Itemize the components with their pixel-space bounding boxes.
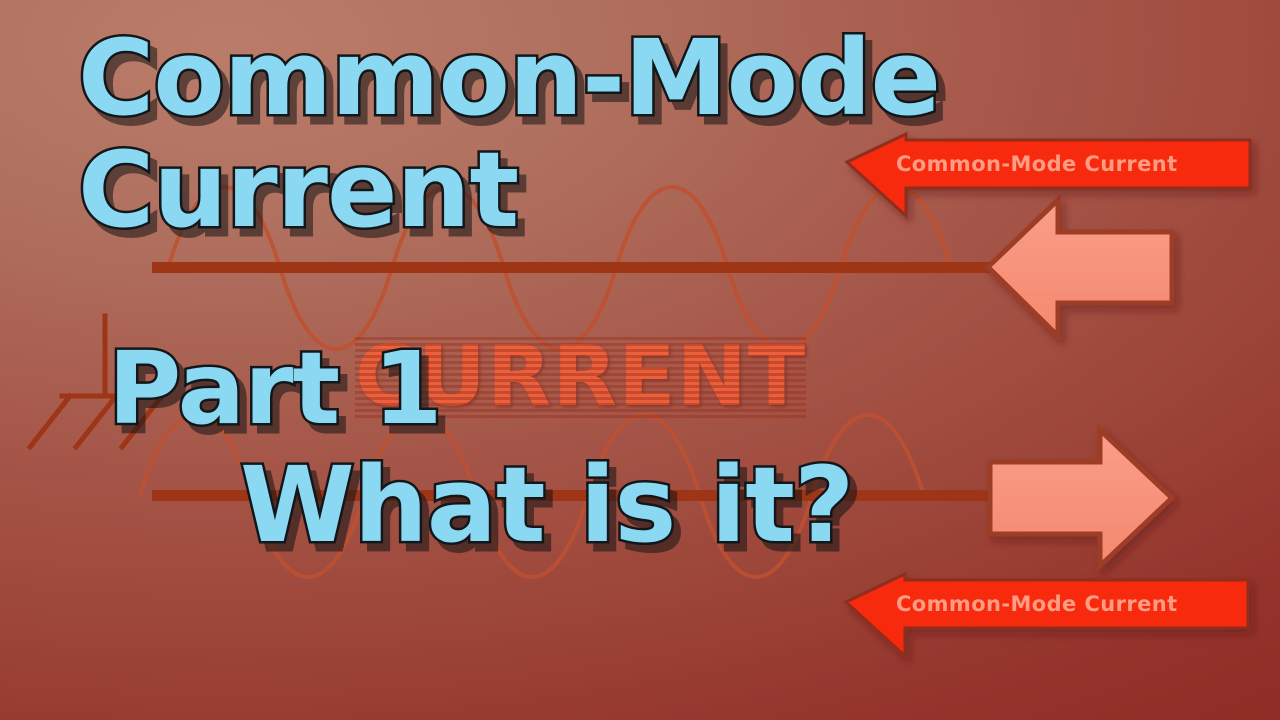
page-title-line-2: Current bbox=[78, 140, 518, 242]
subtitle-question: What is it? bbox=[240, 455, 853, 557]
part-label: Part 1 bbox=[108, 340, 442, 438]
bottom-arrow-label: Common-Mode Current bbox=[896, 592, 1178, 616]
page-title-line-1: Common-Mode bbox=[78, 28, 940, 130]
arrow-right-icon-lower-salmon[interactable] bbox=[990, 430, 1172, 566]
top-arrow-label: Common-Mode Current bbox=[896, 152, 1178, 176]
arrow-left-icon-upper-salmon[interactable] bbox=[988, 200, 1172, 336]
conductor-line-icon-upper bbox=[152, 262, 992, 273]
video-thumbnail-slide: CURRENT Common-Mode Current Part 1 What … bbox=[0, 0, 1280, 720]
